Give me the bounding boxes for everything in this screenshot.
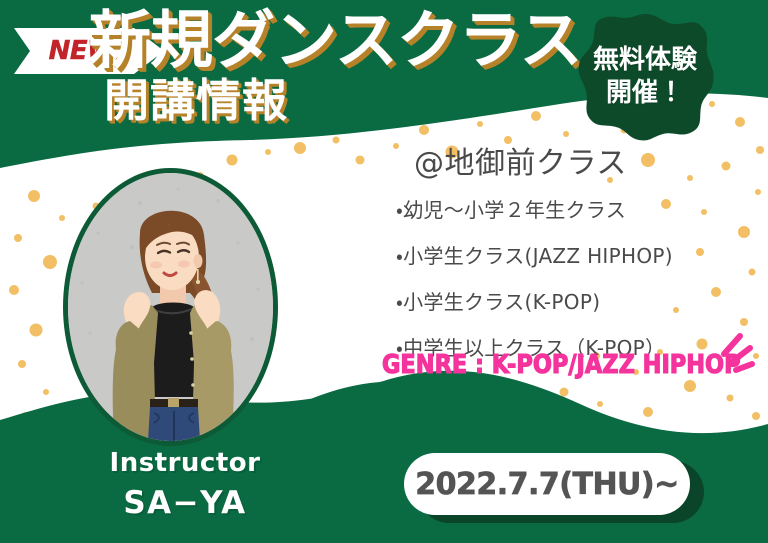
instructor-block: Instructor SA−YA	[60, 448, 310, 521]
free-trial-line-2: 開催！	[606, 79, 684, 108]
free-trial-badge: 無料体験 開催！	[575, 12, 715, 142]
sparkle-lines-icon	[700, 330, 758, 378]
class-list-item: ・幼児〜小学２年生クラス	[396, 194, 764, 223]
headline-main: 新規ダンスクラス	[88, 8, 588, 74]
promo-poster: NEW 新規ダンスクラス 開講情報 無料体験 開催！	[0, 0, 768, 543]
instructor-label: Instructor	[60, 448, 310, 478]
free-trial-badge-text: 無料体験 開催！	[575, 12, 715, 142]
instructor-photo-illustration	[68, 173, 273, 441]
class-location-title: @地御前クラス	[414, 138, 764, 182]
headline-group: 新規ダンスクラス 開講情報	[88, 8, 588, 124]
free-trial-line-1: 無料体験	[593, 46, 697, 75]
start-date-pill: 2022.7.7(THU)~	[404, 453, 690, 515]
headline-sub: 開講情報	[104, 77, 588, 124]
instructor-photo	[68, 173, 273, 441]
instructor-photo-frame	[63, 168, 278, 446]
genre-label: GENRE : K-POP/JAZZ HIPHOP	[382, 350, 741, 380]
start-date-pill-wrap: 2022.7.7(THU)~	[404, 453, 704, 515]
class-list-item: ・小学生クラス(K-POP)	[396, 286, 764, 315]
start-date-text: 2022.7.7(THU)~	[415, 467, 679, 502]
class-list-item: ・小学生クラス(JAZZ HIPHOP)	[396, 240, 764, 269]
instructor-name: SA−YA	[60, 485, 310, 521]
